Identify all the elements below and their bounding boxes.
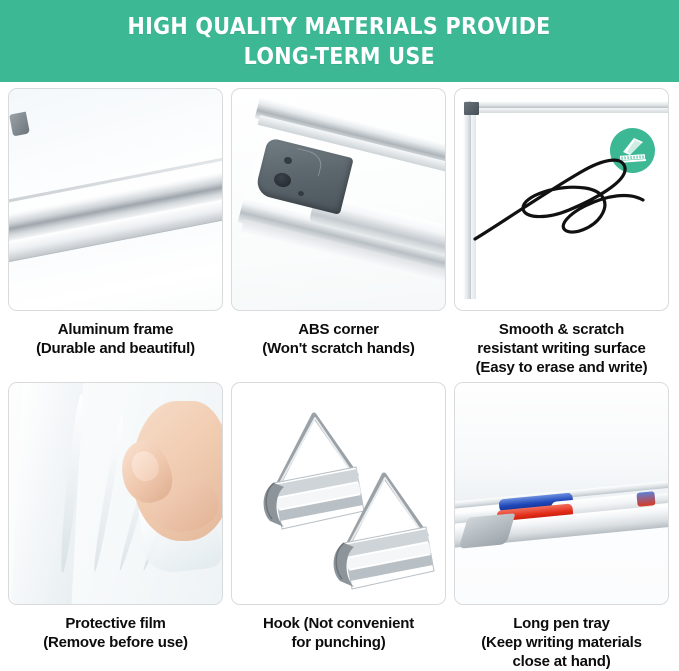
whiteboard-frame-top xyxy=(463,101,668,108)
caption-line-1: Long pen tray xyxy=(450,614,673,633)
caption-line-2: (Won't scratch hands) xyxy=(227,339,450,358)
feature-card-protective-film: Protective film (Remove before use) xyxy=(4,382,227,671)
aluminum-frame-photo xyxy=(8,88,223,311)
caption-line-1: Aluminum frame xyxy=(4,320,227,339)
feature-grid: Aluminum frame (Durable and beautiful) A… xyxy=(0,82,679,671)
header-title-line-1: HIGH QUALITY MATERIALS PROVIDE xyxy=(128,12,551,42)
tray-end-cap xyxy=(459,513,516,549)
caption-line-1: Protective film xyxy=(4,614,227,633)
feature-card-hook: Hook (Not convenient for punching) xyxy=(227,382,450,671)
caption-line-3: (Easy to erase and write) xyxy=(450,358,673,377)
header-title-line-2: LONG-TERM USE xyxy=(244,42,435,72)
abs-corner-photo xyxy=(231,88,446,311)
writing-surface-photo xyxy=(454,88,669,311)
hook-photo xyxy=(231,382,446,605)
marker-scribble xyxy=(473,144,653,254)
pen-tray-photo xyxy=(454,382,669,605)
feature-caption: Hook (Not convenient for punching) xyxy=(227,614,450,652)
caption-line-2: (Remove before use) xyxy=(4,633,227,652)
feature-caption: Smooth & scratch resistant writing surfa… xyxy=(450,320,673,377)
banner-header: HIGH QUALITY MATERIALS PROVIDE LONG-TERM… xyxy=(0,0,679,82)
feature-caption: ABS corner (Won't scratch hands) xyxy=(227,320,450,358)
feature-card-writing-surface: Smooth & scratch resistant writing surfa… xyxy=(450,88,673,377)
caption-line-2: for punching) xyxy=(227,633,450,652)
protective-film-photo xyxy=(8,382,223,605)
caption-line-2: (Durable and beautiful) xyxy=(4,339,227,358)
caption-line-1: Hook (Not convenient xyxy=(227,614,450,633)
feature-card-pen-tray: Long pen tray (Keep writing materials cl… xyxy=(450,382,673,671)
feature-caption: Aluminum frame (Durable and beautiful) xyxy=(4,320,227,358)
caption-line-2: (Keep writing materials xyxy=(450,633,673,652)
hook-icon-secondary xyxy=(330,465,446,605)
caption-line-1: ABS corner xyxy=(227,320,450,339)
whiteboard-frame-top-inner xyxy=(463,108,668,113)
caption-line-3: close at hand) xyxy=(450,652,673,671)
whiteboard-corner-clip xyxy=(464,102,479,115)
feature-caption: Protective film (Remove before use) xyxy=(4,614,227,652)
caption-line-1: Smooth & scratch xyxy=(450,320,673,339)
feature-card-aluminum-frame: Aluminum frame (Durable and beautiful) xyxy=(4,88,227,377)
feature-caption: Long pen tray (Keep writing materials cl… xyxy=(450,614,673,671)
caption-line-2: resistant writing surface xyxy=(450,339,673,358)
whiteboard-frame-left xyxy=(463,101,471,299)
white-marker-cap xyxy=(636,491,655,507)
feature-card-abs-corner: ABS corner (Won't scratch hands) xyxy=(227,88,450,377)
